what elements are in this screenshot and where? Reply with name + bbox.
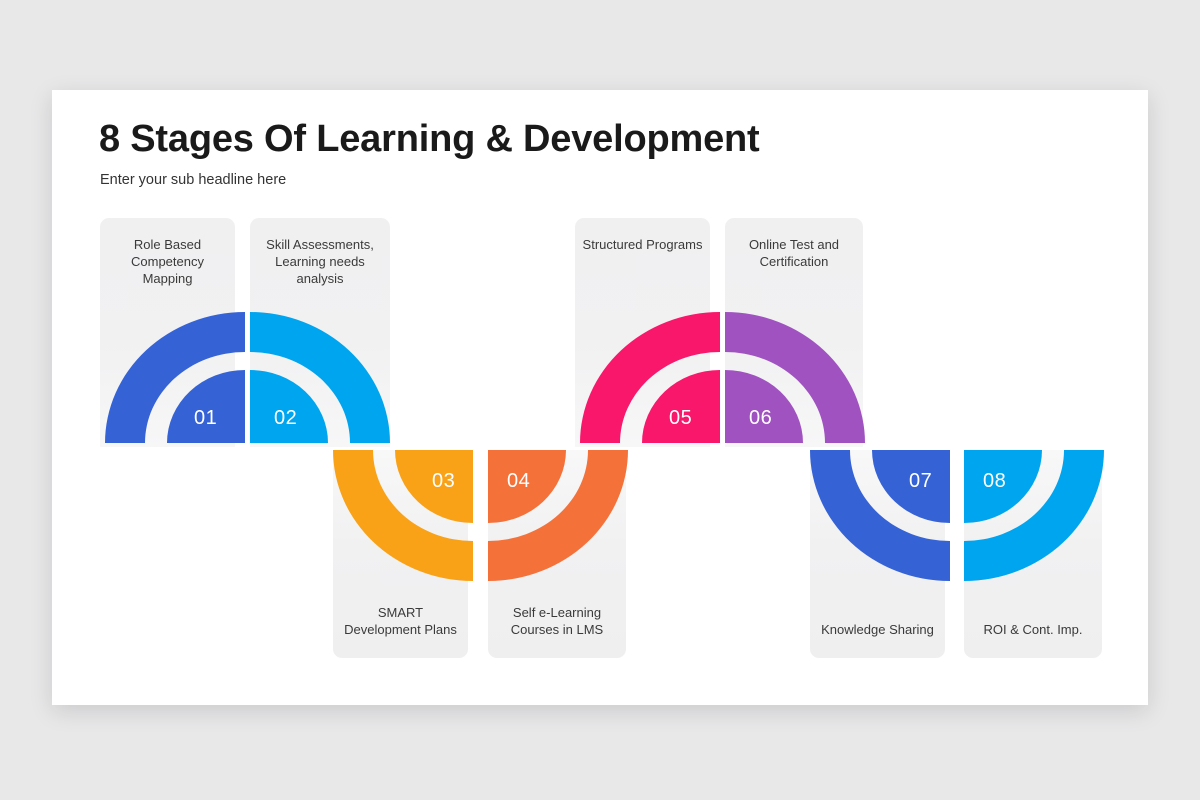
- stage-label-03: SMART Development Plans: [333, 604, 468, 638]
- stage-arc-07[interactable]: [810, 450, 950, 581]
- stage-label-06: Online Test and Certification: [725, 236, 863, 270]
- stage-arc-08[interactable]: [964, 450, 1104, 581]
- stage-arc-03[interactable]: [333, 450, 473, 581]
- stage-arc-04[interactable]: [488, 450, 628, 581]
- stage-label-02: Skill Assessments, Learning needs analys…: [250, 236, 390, 287]
- stage-arc-02[interactable]: [250, 312, 390, 443]
- stage-arc-01[interactable]: [105, 312, 245, 443]
- slide-canvas: 8 Stages Of Learning & Development Enter…: [52, 90, 1148, 705]
- stage-label-07: Knowledge Sharing: [810, 621, 945, 638]
- stage-label-08: ROI & Cont. Imp.: [964, 621, 1102, 638]
- stage-label-01: Role Based Competency Mapping: [100, 236, 235, 287]
- stages-infographic: Role Based Competency Mapping Skill Asse…: [52, 90, 1148, 705]
- stage-arc-05[interactable]: [580, 312, 720, 443]
- arc-inner-06: [725, 370, 803, 443]
- arc-inner-04: [488, 450, 566, 523]
- arc-inner-02: [250, 370, 328, 443]
- stage-arc-06[interactable]: [725, 312, 865, 443]
- arc-inner-05: [642, 370, 720, 443]
- stage-label-05: Structured Programs: [575, 236, 710, 253]
- arc-inner-03: [395, 450, 473, 523]
- arc-inner-01: [167, 370, 245, 443]
- arc-inner-07: [872, 450, 950, 523]
- stage-label-04: Self e-Learning Courses in LMS: [488, 604, 626, 638]
- arc-inner-08: [964, 450, 1042, 523]
